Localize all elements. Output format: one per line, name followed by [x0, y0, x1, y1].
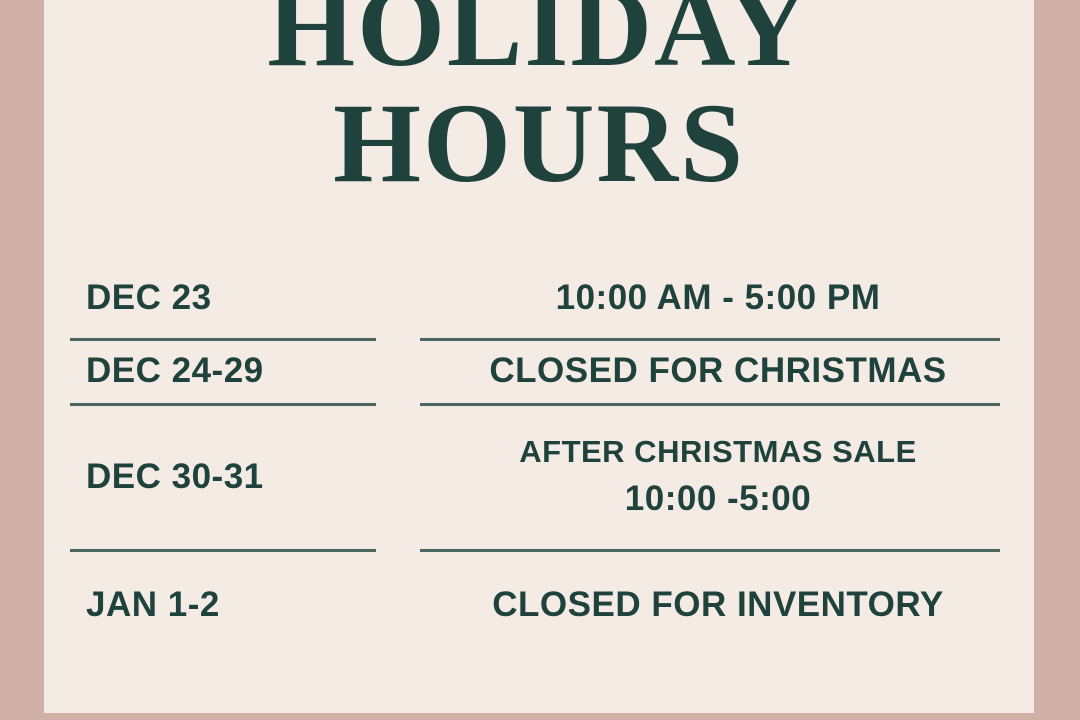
- row-day-cell: DEC 24-29: [44, 339, 392, 403]
- row-divider-left: [70, 660, 376, 663]
- row-day-label: JAN 1-2: [86, 585, 220, 625]
- row-day-cell: JAN 1-2: [44, 550, 392, 660]
- row-day-label: DEC 24-29: [86, 351, 264, 391]
- row-hours-cell: AFTER CHRISTMAS SALE 10:00 -5:00: [436, 404, 1034, 549]
- row-divider-gap: [376, 660, 420, 661]
- table-row: JAN 1-2 CLOSED FOR INVENTORY: [44, 550, 1034, 660]
- row-day-cell: DEC 30-31: [44, 404, 392, 549]
- page-title: HOLIDAY HOURS: [44, 0, 1034, 203]
- column-gap: [392, 404, 436, 549]
- row-divider: [44, 660, 1034, 661]
- poster-canvas: HOLIDAY HOURS DEC 23 10:00 AM - 5:00 PM: [0, 0, 1080, 720]
- title-line-hours: HOURS: [44, 86, 1034, 202]
- holiday-hours-table: DEC 23 10:00 AM - 5:00 PM DEC 24-29: [44, 258, 1034, 661]
- row-hours-cell: CLOSED FOR CHRISTMAS: [436, 339, 1034, 403]
- row-hours-line1: CLOSED FOR INVENTORY: [492, 580, 943, 630]
- row-hours-cell: 10:00 AM - 5:00 PM: [436, 258, 1034, 338]
- row-day-label: DEC 23: [86, 278, 212, 318]
- row-hours-line2: 10:00 -5:00: [625, 474, 811, 524]
- table-row: DEC 24-29 CLOSED FOR CHRISTMAS: [44, 339, 1034, 403]
- row-hours-line1: CLOSED FOR CHRISTMAS: [489, 346, 946, 396]
- title-line-holiday: HOLIDAY: [44, 0, 1034, 86]
- row-day-label: DEC 30-31: [86, 457, 264, 497]
- row-day-cell: DEC 23: [44, 258, 392, 338]
- column-gap: [392, 258, 436, 338]
- row-hours-line1: 10:00 AM - 5:00 PM: [556, 273, 881, 323]
- row-divider-right: [420, 660, 1000, 663]
- table-row: DEC 23 10:00 AM - 5:00 PM: [44, 258, 1034, 338]
- row-hours-line1: AFTER CHRISTMAS SALE: [519, 430, 917, 474]
- column-gap: [392, 339, 436, 403]
- row-hours-cell: CLOSED FOR INVENTORY: [436, 550, 1034, 660]
- table-row: DEC 30-31 AFTER CHRISTMAS SALE 10:00 -5:…: [44, 404, 1034, 549]
- poster-inner-panel: HOLIDAY HOURS DEC 23 10:00 AM - 5:00 PM: [44, 0, 1034, 713]
- column-gap: [392, 550, 436, 660]
